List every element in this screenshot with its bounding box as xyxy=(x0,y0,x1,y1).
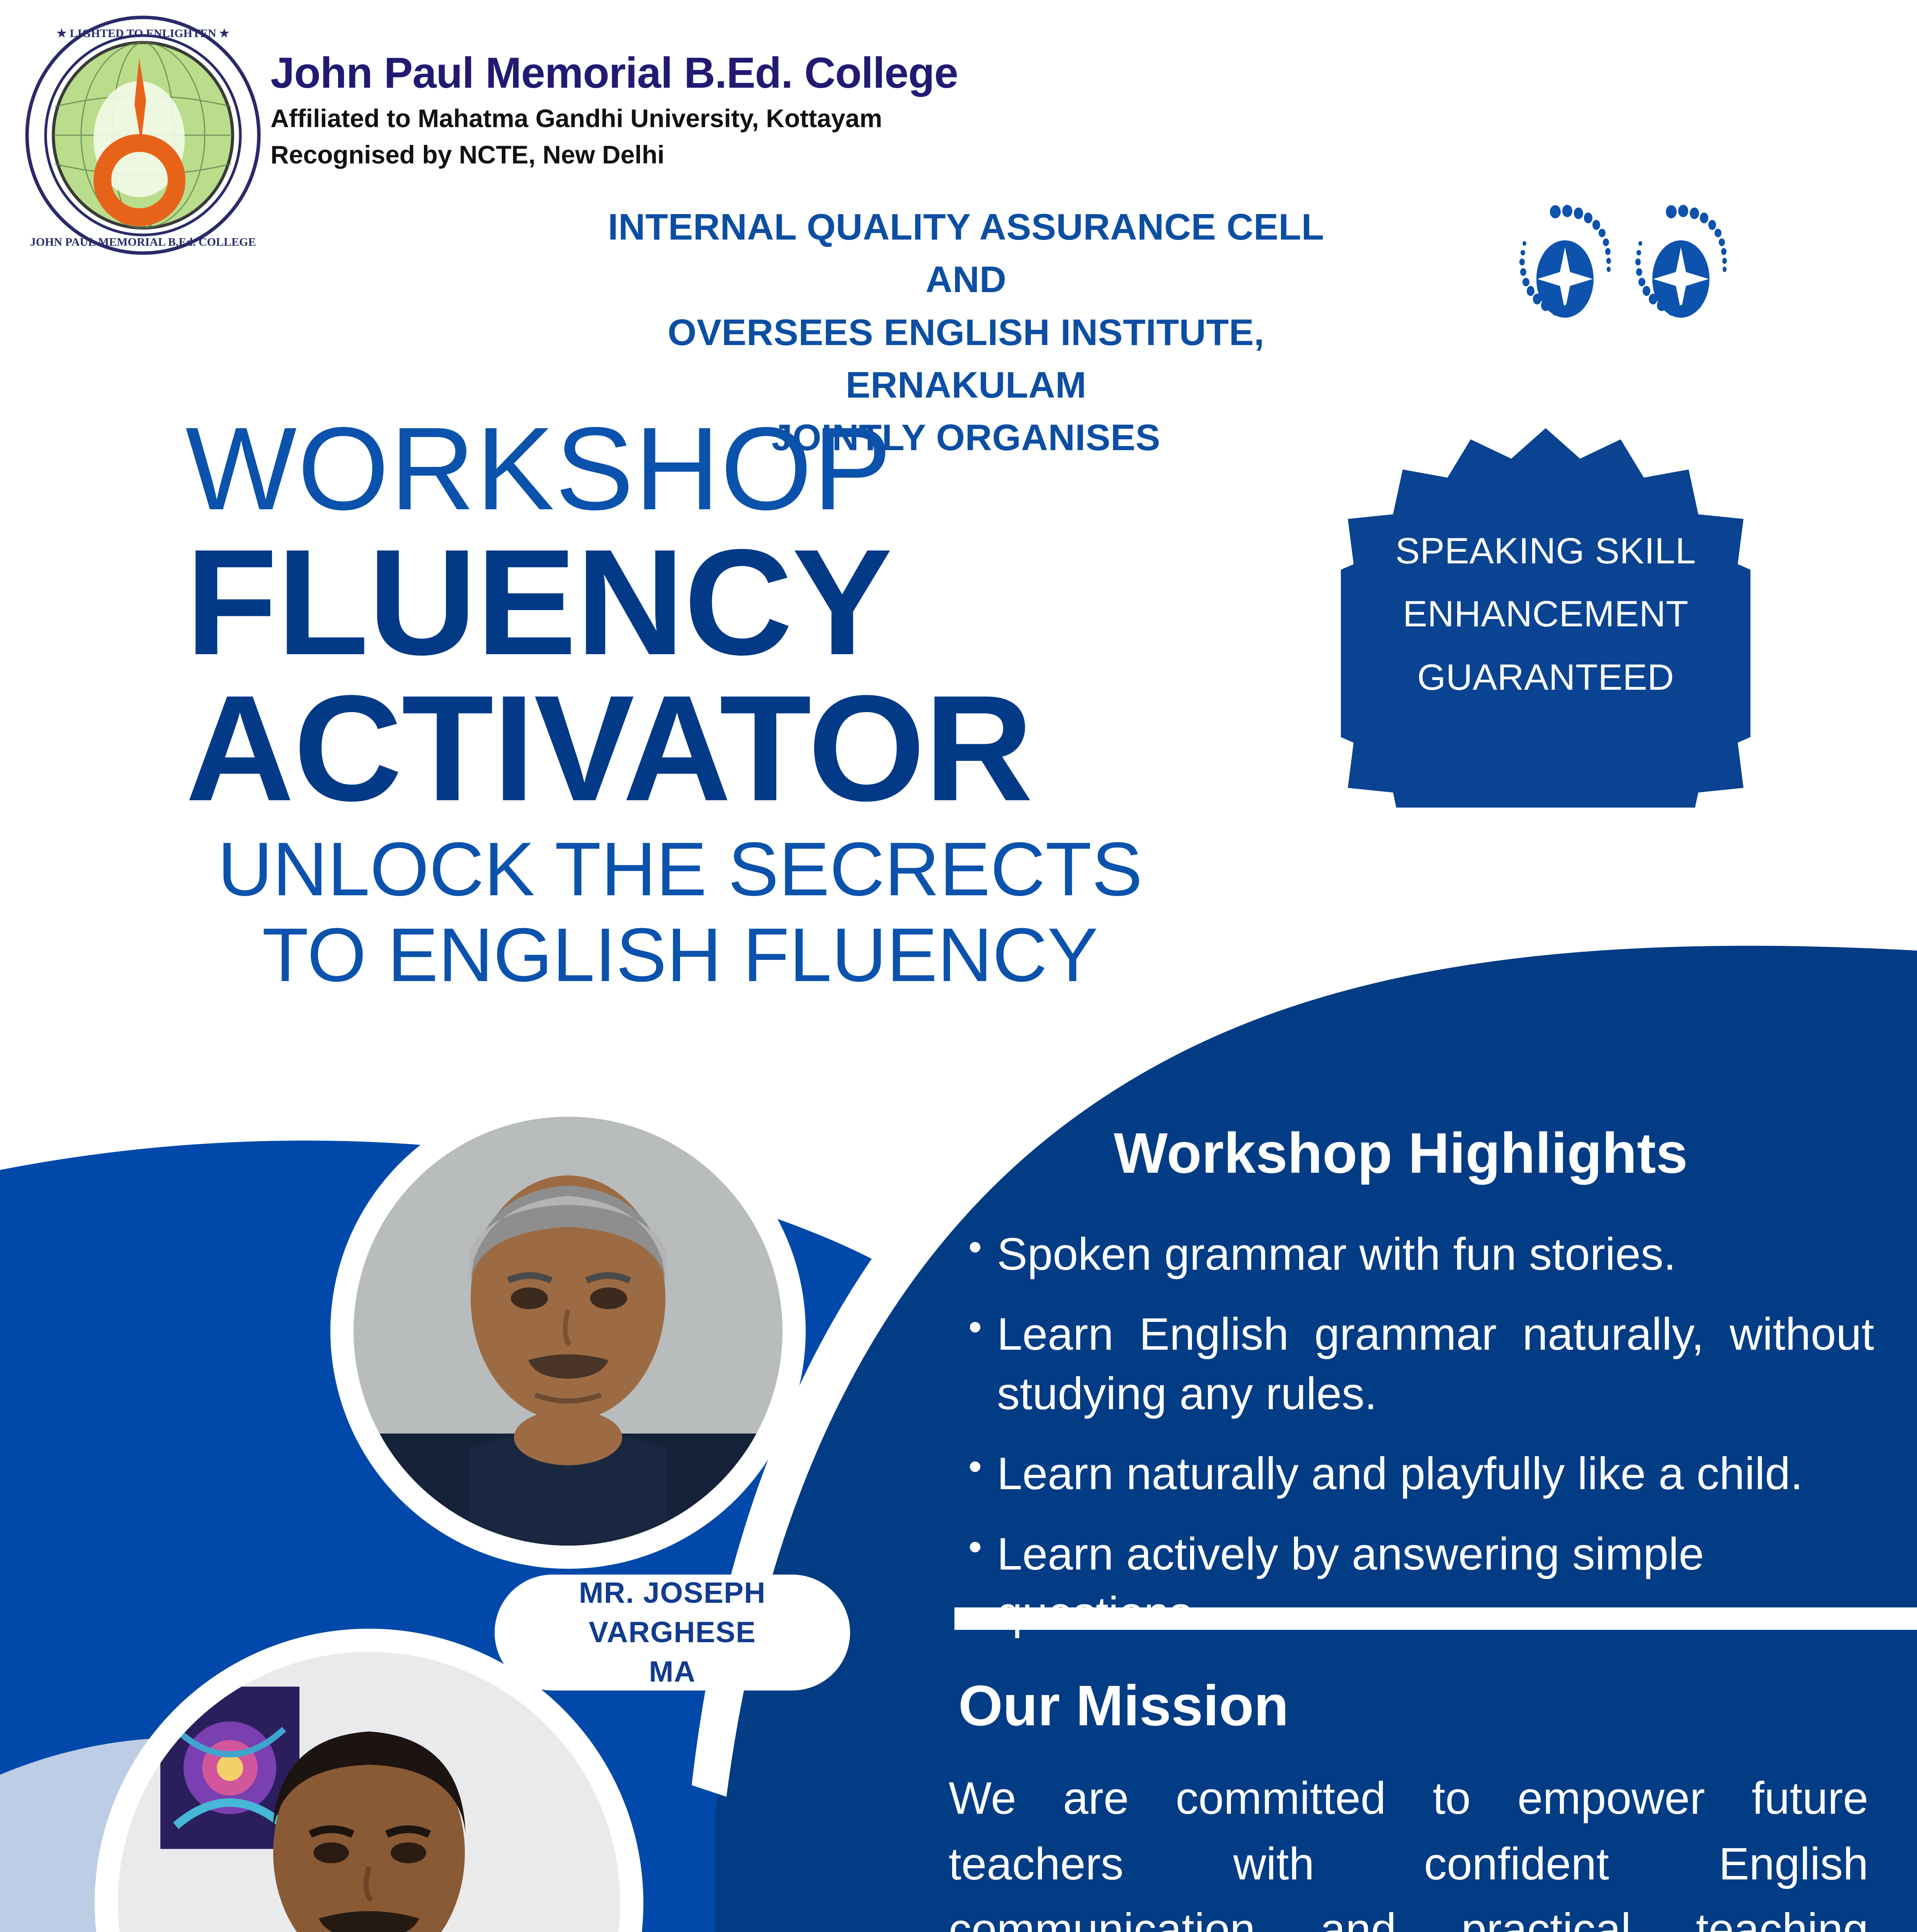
title-subtitle: UNLOCK THE SECRECTS TO ENGLISH FLUENCY xyxy=(158,826,1202,998)
speaker-1-name: MR. JOSEPH VARGHESE xyxy=(495,1573,850,1652)
highlight-item: Learn naturally and playfully like a chi… xyxy=(954,1444,1874,1503)
svg-text:★ LIGHTED TO ENLIGHTEN ★: ★ LIGHTED TO ENLIGHTEN ★ xyxy=(56,27,230,40)
organiser-line-3: OVERSEES ENGLISH INSTITUTE, ERNAKULAM xyxy=(560,306,1372,412)
badge-line-2: ENHANCEMENT xyxy=(1403,583,1688,646)
badge-text: SPEAKING SKILL ENHANCEMENT GUARANTEED xyxy=(1341,421,1750,808)
section-divider xyxy=(954,1607,1917,1630)
mission-body: We are committed to empower future teach… xyxy=(949,1766,1868,1932)
badge-line-1: SPEAKING SKILL xyxy=(1395,520,1696,583)
poster-header: ★ LIGHTED TO ENLIGHTEN ★ JOHN PAUL MEMOR… xyxy=(0,0,1917,390)
college-name: John Paul Memorial B.Ed. College xyxy=(270,50,958,96)
title-line-1: FLUENCY xyxy=(185,529,1345,675)
highlight-item: Learn English grammar naturally, without… xyxy=(954,1305,1874,1423)
organiser-line-1: INTERNAL QUALITY ASSURANCE CELL xyxy=(560,201,1372,253)
organiser-line-2: AND xyxy=(560,253,1372,306)
speaker-1-degree: MA xyxy=(649,1652,696,1692)
highlights-heading: Workshop Highlights xyxy=(947,1121,1855,1186)
sparkle-star-icon xyxy=(1492,189,1762,344)
svg-text:JOHN PAUL MEMORIAL B.Ed. COLLE: JOHN PAUL MEMORIAL B.Ed. COLLEGE xyxy=(30,236,256,248)
highlight-item: Spoken grammar with fun stories. xyxy=(954,1225,1874,1284)
speaker-1-name-pill: MR. JOSEPH VARGHESE MA xyxy=(495,1575,850,1690)
guarantee-badge: SPEAKING SKILL ENHANCEMENT GUARANTEED xyxy=(1341,421,1750,808)
speaker-1-portrait xyxy=(354,1117,782,1546)
college-identity-text: John Paul Memorial B.Ed. College Affilia… xyxy=(270,50,958,169)
mission-heading: Our Mission xyxy=(958,1673,1289,1739)
college-seal-logo-icon: ★ LIGHTED TO ENLIGHTEN ★ JOHN PAUL MEMOR… xyxy=(23,15,263,255)
title-line-2: ACTIVATOR xyxy=(185,675,1345,821)
title-eyebrow: WORKSHOP xyxy=(185,410,1345,527)
college-recognition: Recognised by NCTE, New Delhi xyxy=(270,141,958,169)
poster-title-block: WORKSHOP FLUENCY ACTIVATOR UNLOCK THE SE… xyxy=(185,410,1345,998)
badge-line-3: GUARANTEED xyxy=(1417,646,1674,709)
speaker-1-avatar xyxy=(354,1117,782,1546)
college-affiliation: Affiliated to Mahatma Gandhi University,… xyxy=(270,104,958,133)
highlights-list: Spoken grammar with fun stories. Learn E… xyxy=(954,1225,1874,1643)
